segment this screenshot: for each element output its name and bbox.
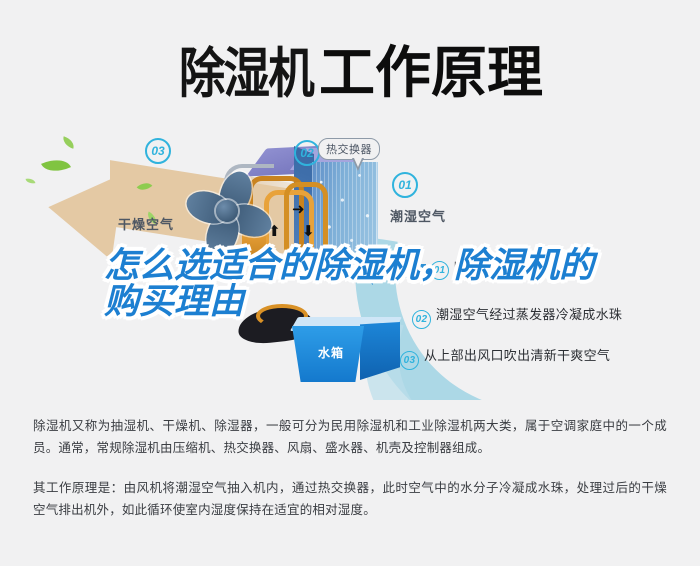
diagram-badge-02: 02 [294, 140, 320, 166]
diagram-badge-01: 01 [392, 172, 418, 198]
infographic-page: 除湿机工作原理 ➜ ⬆ [0, 0, 700, 566]
dry-air-label: 干燥空气 [118, 214, 174, 233]
heat-exchanger-callout-pointer [352, 158, 364, 171]
body-paragraph-2: 其工作原理是：由风机将潮湿空气抽入机内，通过热交换器，此时空气中的水分子冷凝成水… [33, 477, 667, 521]
leaf-icon [61, 136, 76, 149]
water-tank-label: 水箱 [318, 344, 344, 361]
arrow-right-icon: ➜ [292, 202, 305, 217]
water-tank: 水箱 [290, 314, 402, 392]
humid-air-label: 潮湿空气 [390, 206, 446, 225]
page-title-part2: 工作原理 [319, 28, 543, 109]
overlay-headline: 怎么选适合的除湿机，除湿机的购买理由 [104, 248, 624, 320]
heat-exchanger-callout: 热交换器 [318, 138, 380, 160]
water-tank-side [360, 322, 400, 380]
arrow-down-icon: ⬇ [302, 224, 315, 239]
body-copy: 除湿机又称为抽湿机、干燥机、除湿器，一般可分为民用除湿机和工业除湿机两大类，属于… [33, 415, 667, 521]
leaf-icon [26, 177, 36, 184]
step-text-03: 从上部出风口吹出清新干爽空气 [424, 348, 610, 363]
fan-illustration [178, 162, 274, 258]
step-badge-03: 03 [400, 351, 419, 370]
page-title: 除湿机工作原理 [0, 28, 700, 109]
fan-hub [216, 200, 238, 222]
diagram-badge-03: 03 [145, 138, 171, 164]
body-paragraph-1: 除湿机又称为抽湿机、干燥机、除湿器，一般可分为民用除湿机和工业除湿机两大类，属于… [33, 415, 667, 459]
step-line-03: 03从上部出风口吹出清新干爽空气 [400, 345, 610, 370]
page-title-part1: 除湿机 [179, 29, 313, 108]
